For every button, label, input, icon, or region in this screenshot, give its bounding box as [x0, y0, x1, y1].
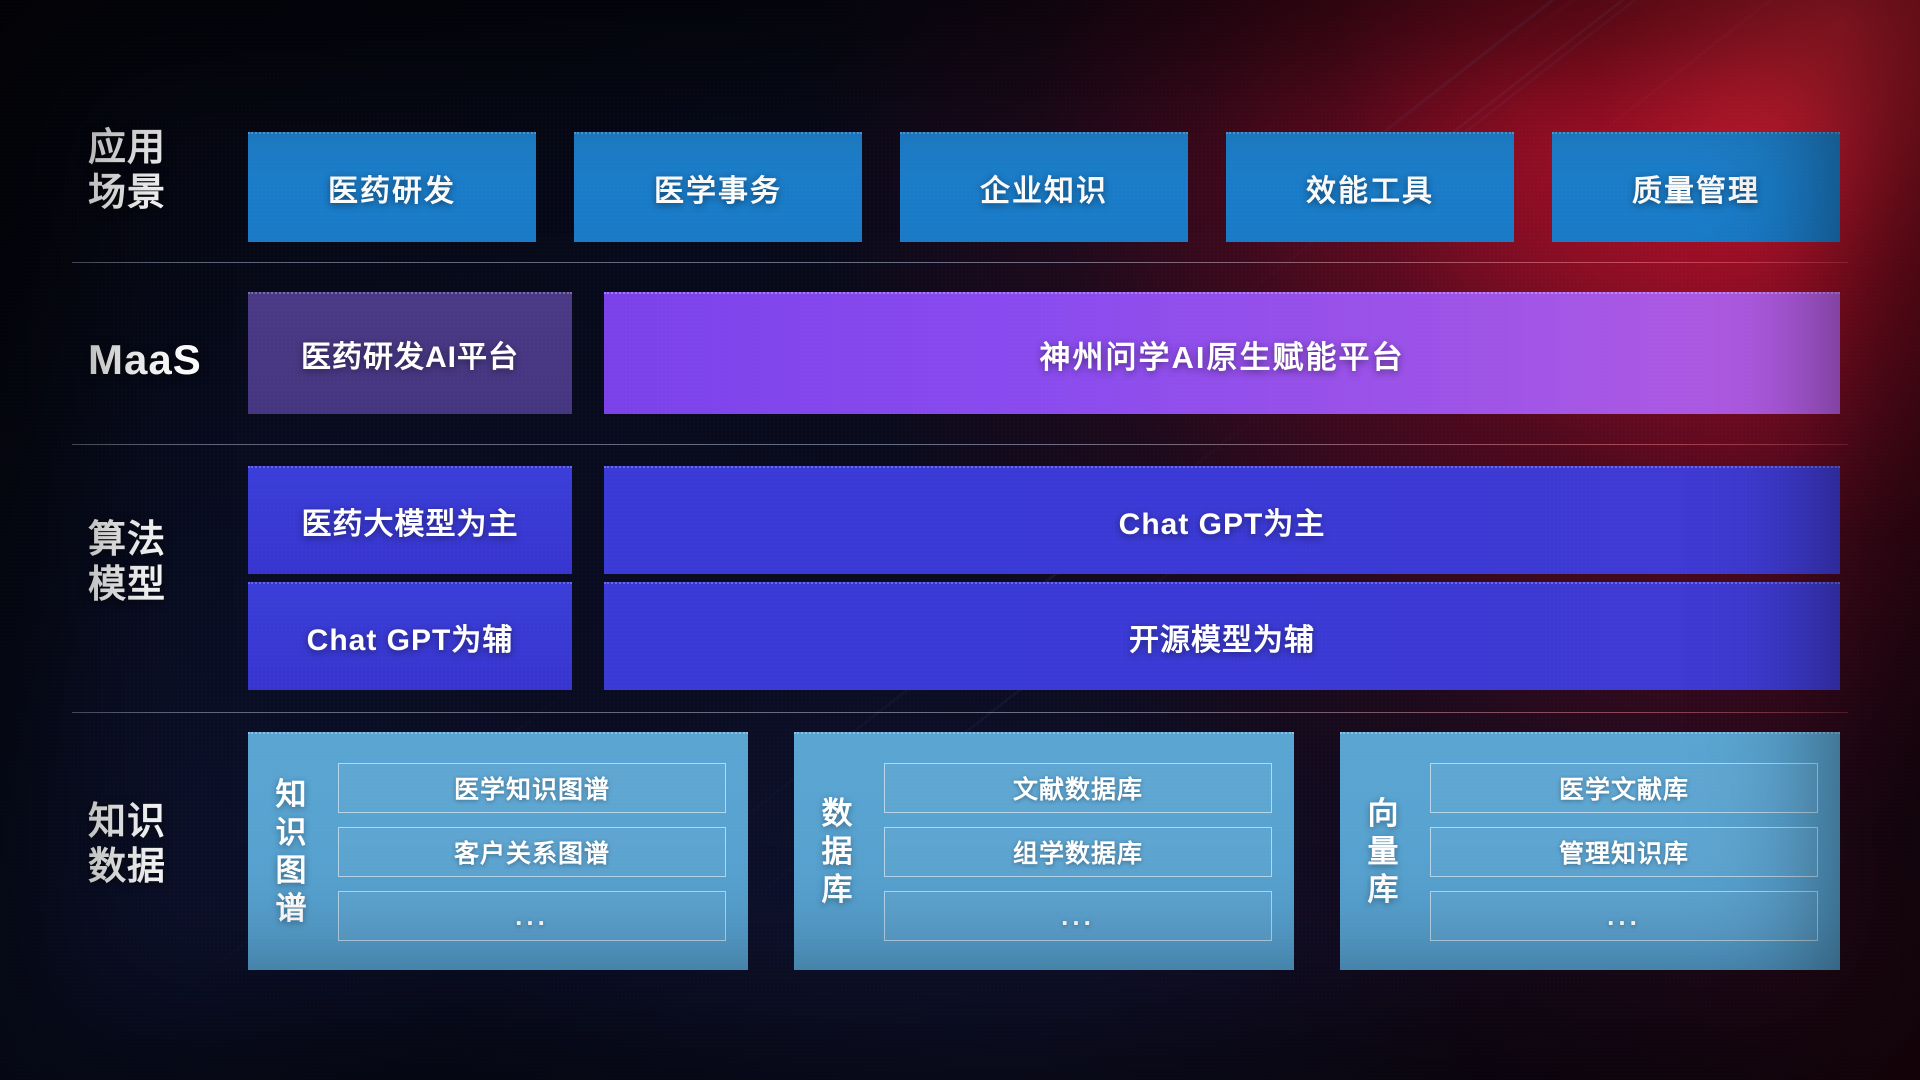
row-label-maas-text: MaaS — [88, 335, 220, 385]
application-box-2[interactable]: 医学事务 — [574, 132, 862, 242]
divider-algorithm-knowledge — [72, 712, 1848, 713]
knowledge-card-graph-side-char-2: 识 — [276, 814, 307, 852]
knowledge-item-vector-more-label: ... — [1607, 901, 1641, 932]
algorithm-box-chatgpt-aux[interactable]: Chat GPT为辅 — [248, 582, 572, 690]
slide-canvas: 应用 场景 医药研发 医学事务 企业知识 效能工具 质量管理 MaaS 医药研发… — [0, 0, 1920, 1080]
knowledge-item-literature-db-label: 文献数据库 — [1013, 770, 1143, 806]
algorithm-box-medical-main[interactable]: 医药大模型为主 — [248, 466, 572, 574]
row-label-algorithm-line2: 模型 — [88, 563, 220, 608]
knowledge-card-database-side-char-3: 库 — [822, 871, 853, 909]
divider-maas-algorithm — [72, 444, 1848, 445]
knowledge-card-database-side-char-2: 据 — [822, 833, 853, 871]
maas-box-shenzhou-platform-label: 神州问学AI原生赋能平台 — [1040, 332, 1405, 377]
row-label-maas: MaaS — [88, 335, 220, 385]
knowledge-item-management-knowledge-label: 管理知识库 — [1559, 834, 1689, 870]
knowledge-card-vector-side-label: 向 量 库 — [1340, 734, 1426, 970]
row-label-application-line1: 应用 — [88, 126, 220, 171]
algorithm-box-chatgpt-main[interactable]: Chat GPT为主 — [604, 466, 1840, 574]
knowledge-card-graph-side-char-1: 知 — [276, 776, 307, 814]
knowledge-item-customer-graph[interactable]: 客户关系图谱 — [338, 827, 726, 877]
knowledge-item-customer-graph-label: 客户关系图谱 — [454, 834, 610, 870]
row-label-knowledge-line1: 知识 — [88, 800, 220, 845]
knowledge-card-database-items: 文献数据库 组学数据库 ... — [880, 734, 1294, 970]
knowledge-item-database-more-label: ... — [1061, 901, 1095, 932]
knowledge-card-database-side-label: 数 据 库 — [794, 734, 880, 970]
maas-box-shenzhou-platform[interactable]: 神州问学AI原生赋能平台 — [604, 292, 1840, 414]
knowledge-item-medical-graph-label: 医学知识图谱 — [454, 770, 610, 806]
knowledge-item-database-more[interactable]: ... — [884, 891, 1272, 941]
knowledge-item-medical-literature[interactable]: 医学文献库 — [1430, 763, 1818, 813]
algorithm-box-opensource-aux[interactable]: 开源模型为辅 — [604, 582, 1840, 690]
knowledge-card-vector-items: 医学文献库 管理知识库 ... — [1426, 734, 1840, 970]
application-box-1[interactable]: 医药研发 — [248, 132, 536, 242]
row-label-algorithm: 算法 模型 — [88, 518, 220, 608]
knowledge-item-graph-more-label: ... — [515, 901, 549, 932]
knowledge-card-graph-side-char-3: 图 — [276, 852, 307, 890]
row-label-application: 应用 场景 — [88, 126, 220, 216]
knowledge-card-graph-items: 医学知识图谱 客户关系图谱 ... — [334, 734, 748, 970]
knowledge-card-vector[interactable]: 向 量 库 医学文献库 管理知识库 ... — [1340, 732, 1840, 970]
knowledge-item-graph-more[interactable]: ... — [338, 891, 726, 941]
knowledge-item-omics-db[interactable]: 组学数据库 — [884, 827, 1272, 877]
row-label-application-line2: 场景 — [88, 171, 220, 216]
knowledge-card-vector-side-char-1: 向 — [1368, 795, 1399, 833]
knowledge-card-vector-side-char-2: 量 — [1368, 833, 1399, 871]
application-box-5-label: 质量管理 — [1632, 166, 1760, 210]
application-box-3[interactable]: 企业知识 — [900, 132, 1188, 242]
knowledge-item-medical-literature-label: 医学文献库 — [1559, 770, 1689, 806]
diagram-content: 应用 场景 医药研发 医学事务 企业知识 效能工具 质量管理 MaaS 医药研发… — [0, 0, 1920, 1080]
knowledge-card-database[interactable]: 数 据 库 文献数据库 组学数据库 ... — [794, 732, 1294, 970]
maas-box-medical-platform-label: 医药研发AI平台 — [301, 332, 519, 376]
application-box-4-label: 效能工具 — [1306, 166, 1434, 210]
knowledge-card-graph-side-char-4: 谱 — [276, 890, 307, 928]
knowledge-item-omics-db-label: 组学数据库 — [1013, 834, 1143, 870]
row-label-knowledge: 知识 数据 — [88, 800, 220, 890]
row-label-algorithm-line1: 算法 — [88, 518, 220, 563]
knowledge-item-management-knowledge[interactable]: 管理知识库 — [1430, 827, 1818, 877]
maas-box-medical-platform[interactable]: 医药研发AI平台 — [248, 292, 572, 414]
divider-application-maas — [72, 262, 1848, 263]
knowledge-item-vector-more[interactable]: ... — [1430, 891, 1818, 941]
application-box-2-label: 医学事务 — [654, 166, 782, 210]
knowledge-card-graph-side-label: 知 识 图 谱 — [248, 734, 334, 970]
algorithm-box-chatgpt-main-label: Chat GPT为主 — [1119, 499, 1326, 543]
knowledge-card-vector-side-char-3: 库 — [1368, 871, 1399, 909]
knowledge-card-database-side-char-1: 数 — [822, 795, 853, 833]
algorithm-box-medical-main-label: 医药大模型为主 — [302, 499, 519, 543]
knowledge-item-medical-graph[interactable]: 医学知识图谱 — [338, 763, 726, 813]
algorithm-box-opensource-aux-label: 开源模型为辅 — [1129, 615, 1315, 659]
application-box-5[interactable]: 质量管理 — [1552, 132, 1840, 242]
knowledge-card-graph[interactable]: 知 识 图 谱 医学知识图谱 客户关系图谱 ... — [248, 732, 748, 970]
application-box-1-label: 医药研发 — [328, 166, 456, 210]
knowledge-item-literature-db[interactable]: 文献数据库 — [884, 763, 1272, 813]
application-box-3-label: 企业知识 — [980, 166, 1108, 210]
application-box-4[interactable]: 效能工具 — [1226, 132, 1514, 242]
algorithm-box-chatgpt-aux-label: Chat GPT为辅 — [307, 615, 514, 659]
row-label-knowledge-line2: 数据 — [88, 845, 220, 890]
